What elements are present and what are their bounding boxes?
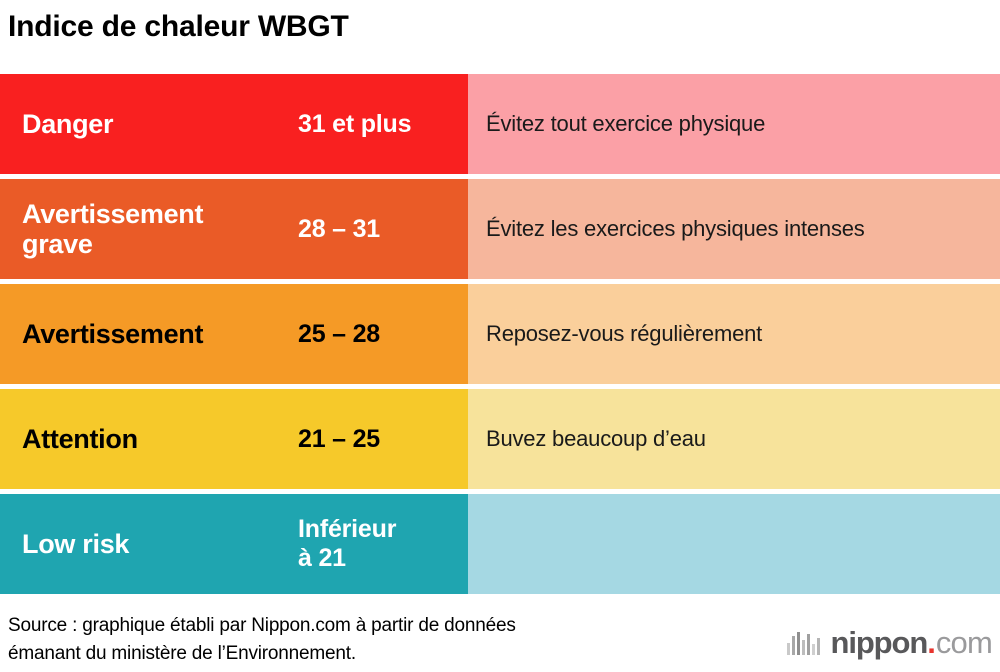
- level-label: Avertissement: [22, 319, 203, 349]
- nippon-logo: nippon.com: [787, 624, 993, 658]
- bars-icon: [787, 631, 822, 655]
- advice-cell: Reposez-vous régulièrement: [468, 284, 1000, 384]
- advice-cell: Buvez beaucoup d’eau: [468, 389, 1000, 489]
- level-cell: Low risk: [0, 494, 298, 594]
- level-cell: Attention: [0, 389, 298, 489]
- advice-label: Évitez tout exercice physique: [486, 111, 765, 137]
- table-row: Avertissementgrave 28 – 31 Évitez les ex…: [0, 179, 1000, 279]
- range-label: 31 et plus: [298, 110, 411, 139]
- table-row: Low risk Inférieurà 21: [0, 494, 1000, 594]
- range-label: 28 – 31: [298, 215, 380, 244]
- level-cell: Danger: [0, 74, 298, 174]
- source-note: Source : graphique établi par Nippon.com…: [8, 612, 708, 668]
- logo-wordmark: nippon: [831, 628, 928, 658]
- advice-label: Évitez les exercices physiques intenses: [486, 216, 865, 242]
- page-title: Indice de chaleur WBGT: [8, 8, 349, 46]
- logo-tld: com: [936, 628, 992, 658]
- logo-dot: .: [927, 628, 936, 658]
- source-line-2: émanant du ministère de l’Environnement.: [8, 643, 356, 664]
- wbgt-index-table: Danger 31 et plus Évitez tout exercice p…: [0, 74, 1000, 594]
- range-cell: 28 – 31: [298, 179, 468, 279]
- level-label: Danger: [22, 109, 113, 139]
- range-label-line1: Inférieur: [298, 515, 396, 543]
- range-cell: 31 et plus: [298, 74, 468, 174]
- level-label: Attention: [22, 424, 138, 454]
- level-cell: Avertissementgrave: [0, 179, 298, 279]
- advice-label: Buvez beaucoup d’eau: [486, 426, 706, 452]
- source-line-1: Source : graphique établi par Nippon.com…: [8, 615, 516, 636]
- range-label-line2: à 21: [298, 544, 346, 572]
- level-label: Avertissementgrave: [22, 199, 203, 259]
- range-cell: 25 – 28: [298, 284, 468, 384]
- table-row: Avertissement 25 – 28 Reposez-vous régul…: [0, 284, 1000, 384]
- range-cell: Inférieurà 21: [298, 494, 468, 594]
- level-cell: Avertissement: [0, 284, 298, 384]
- level-label: Low risk: [22, 529, 129, 559]
- level-label-line2: grave: [22, 229, 93, 259]
- advice-label: Reposez-vous régulièrement: [486, 321, 762, 347]
- advice-cell: Évitez tout exercice physique: [468, 74, 1000, 174]
- advice-cell: Évitez les exercices physiques intenses: [468, 179, 1000, 279]
- range-label: 21 – 25: [298, 425, 380, 454]
- table-row: Attention 21 – 25 Buvez beaucoup d’eau: [0, 389, 1000, 489]
- range-label: 25 – 28: [298, 320, 380, 349]
- advice-cell: [468, 494, 1000, 594]
- table-row: Danger 31 et plus Évitez tout exercice p…: [0, 74, 1000, 174]
- level-label-line1: Avertissement: [22, 199, 203, 229]
- range-cell: 21 – 25: [298, 389, 468, 489]
- range-label: Inférieurà 21: [298, 515, 396, 573]
